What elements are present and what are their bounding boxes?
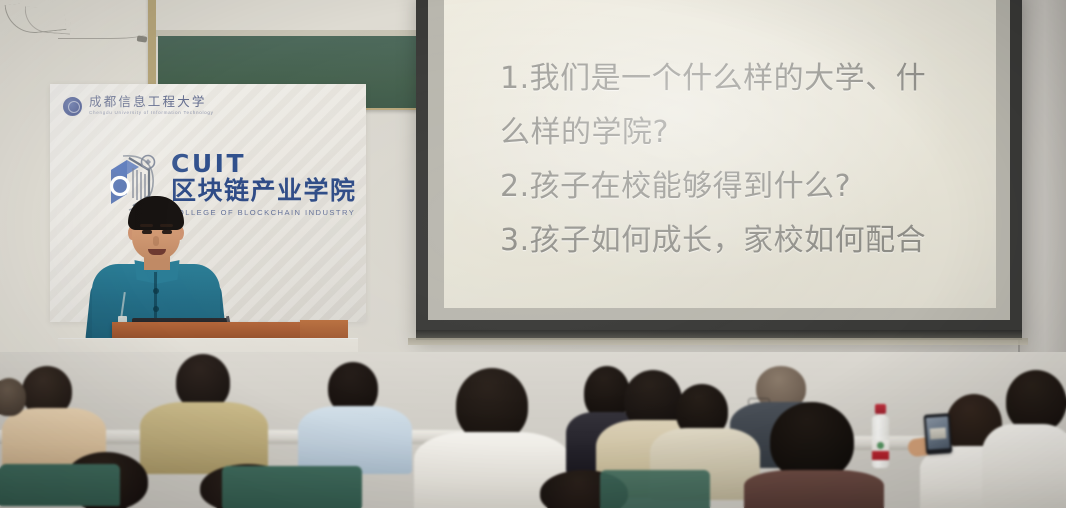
presenter-eye-right	[162, 230, 172, 234]
water-bottle-cap	[875, 404, 886, 414]
seat-back	[222, 466, 362, 508]
audience-torso	[298, 406, 412, 474]
smartphone-screen[interactable]	[926, 416, 950, 449]
university-logo-text: 成都信息工程大学 Chengdu University of Informati…	[89, 96, 214, 116]
seat-back	[0, 464, 120, 506]
wall-cable	[58, 26, 146, 39]
college-acronym: CUIT	[171, 151, 357, 176]
presenter-nose	[153, 236, 159, 246]
presenter-shirt-button	[153, 306, 159, 312]
screen-ledge	[408, 338, 1028, 345]
audience-head	[770, 402, 854, 480]
presenter-shirt-button	[153, 288, 159, 294]
wall-right-panel	[1020, 0, 1066, 360]
audience-torso	[982, 424, 1066, 508]
smartphone-captured-slide	[930, 427, 947, 439]
slide-line-3: 2.孩子在校能够得到什么?	[500, 160, 970, 214]
smartphone	[924, 413, 953, 455]
slide-line-2: 么样的学院?	[500, 106, 970, 160]
audience-torso	[744, 470, 884, 508]
presenter-hair	[128, 196, 184, 230]
slide-line-1: 1.我们是一个什么样的大学、什	[500, 52, 970, 106]
university-name-cn: 成都信息工程大学	[89, 96, 214, 109]
university-logo: 成都信息工程大学 Chengdu University of Informati…	[63, 92, 243, 120]
presenter-eyebrow-right	[160, 224, 173, 227]
cable-clip	[137, 35, 148, 42]
audience-head	[456, 368, 528, 442]
water-bottle	[872, 404, 889, 468]
audience-head	[1006, 370, 1066, 432]
university-seal-icon	[63, 97, 82, 116]
slide-text-block: 1.我们是一个什么样的大学、什 么样的学院? 2.孩子在校能够得到什么? 3.孩…	[500, 52, 970, 268]
water-bottle-logo-icon	[877, 442, 884, 449]
slide-line-4: 3.孩子如何成长，家校如何配合	[500, 214, 970, 268]
lecture-hall-scene: 成都信息工程大学 Chengdu University of Informati…	[0, 0, 1066, 508]
presenter-eyebrow-left	[140, 224, 153, 227]
university-name-en: Chengdu University of Information Techno…	[89, 111, 214, 116]
seat-back	[600, 470, 710, 508]
presenter-eye-left	[142, 230, 152, 234]
